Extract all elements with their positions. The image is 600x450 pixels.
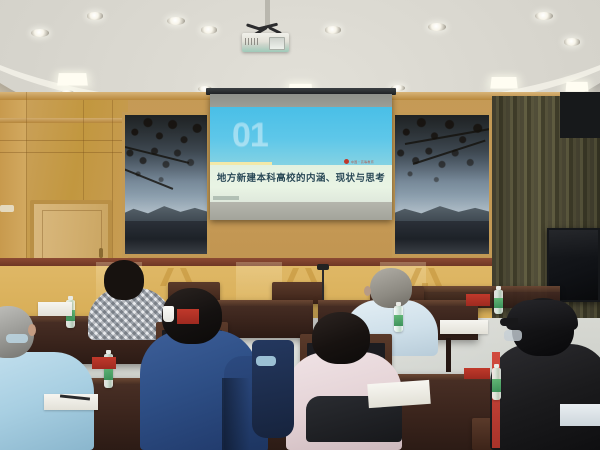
wall-seam — [83, 100, 84, 200]
ceiling-downlight — [87, 12, 103, 19]
attendee-head — [312, 312, 370, 364]
bottle-label — [394, 315, 403, 326]
projection-screen: 01 中国・高等教育 地方新建本科高校的内涵、现状与思考 — [210, 94, 392, 220]
ceiling-downlight — [428, 23, 446, 31]
presentation-slide: 01 中国・高等教育 地方新建本科高校的内涵、现状与思考 — [210, 107, 392, 202]
bottle-cap — [496, 286, 501, 290]
draped-jacket — [252, 340, 294, 438]
ceiling-downlight — [31, 29, 49, 37]
ceiling-downlight — [535, 12, 553, 20]
document — [440, 320, 488, 334]
slide-title: 地方新建本科高校的内涵、现状与思考 — [210, 170, 392, 184]
ceiling-downlight — [564, 38, 580, 45]
face-mask — [6, 334, 28, 343]
screen-bottom-band — [210, 202, 392, 220]
projector-vent — [245, 38, 258, 45]
attendee-ear — [364, 286, 371, 296]
attendee-head — [370, 268, 412, 308]
upper-dark-panel — [560, 92, 600, 138]
ceiling-downlight — [201, 26, 217, 33]
name-placard — [92, 357, 116, 369]
water-bottle — [394, 306, 403, 332]
screen-top-band — [210, 94, 392, 107]
wall-mural-right — [392, 112, 492, 257]
document — [367, 380, 431, 408]
bottle-label — [494, 298, 503, 308]
ceiling-panel-light — [490, 77, 517, 89]
bottle-cap — [68, 296, 73, 300]
name-placard — [466, 294, 490, 306]
bottle-cap — [396, 302, 401, 306]
document — [560, 404, 600, 426]
ceiling-panel-light — [566, 82, 589, 92]
water-bottle — [494, 290, 503, 314]
mural-ground — [395, 221, 489, 254]
slide-accent-bar — [210, 162, 272, 165]
bottle-label — [492, 379, 501, 392]
desk-surface — [420, 286, 560, 292]
slide-logo: 中国・高等教育 — [344, 159, 374, 164]
water-bottle — [492, 368, 501, 400]
paper-cup — [163, 306, 174, 322]
ceiling-downlight — [325, 26, 341, 33]
slide-section-number: 01 — [232, 118, 268, 152]
attendee-head — [104, 260, 144, 300]
wall-seam — [0, 140, 128, 141]
desk-leg — [446, 338, 451, 372]
mural-tree-canopy — [125, 115, 207, 210]
ceiling-panel-light — [57, 73, 88, 85]
wall-mural-left — [122, 112, 210, 257]
attendee-torso — [490, 344, 600, 450]
bottle-cap — [106, 350, 111, 354]
face-mask — [256, 356, 276, 366]
slide-logo-text: 中国・高等教育 — [351, 160, 374, 164]
door-handle[interactable] — [99, 248, 103, 258]
conference-room-photo: 01 中国・高等教育 地方新建本科高校的内涵、现状与思考 — [0, 0, 600, 450]
name-placard — [177, 309, 199, 324]
document — [38, 302, 72, 316]
microphone-head-icon — [317, 264, 329, 270]
mural-tree-canopy — [395, 115, 489, 210]
projector-icon — [242, 33, 289, 52]
monitor-glare — [549, 230, 598, 258]
bottle-cap — [494, 364, 499, 368]
slide-footer-bar — [213, 196, 239, 200]
projector-lens — [269, 37, 285, 50]
logo-mark-icon — [344, 159, 349, 164]
attendee-ear — [28, 324, 36, 336]
wall-seam — [0, 152, 128, 153]
cap-brim — [500, 318, 518, 326]
wall-lamp — [0, 205, 14, 212]
mural-ground — [125, 221, 207, 254]
desk-shadow — [222, 378, 250, 450]
face-mask — [504, 330, 522, 341]
name-placard — [464, 368, 490, 379]
ceiling-downlight — [167, 17, 185, 25]
